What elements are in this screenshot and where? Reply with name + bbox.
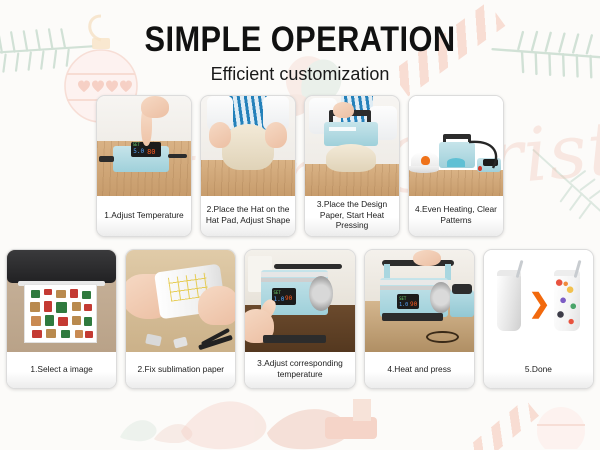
step-card-hat-2[interactable]: 2.Place the Hat on the Hat Pad, Adjust S… xyxy=(200,95,296,237)
sticker-sheet xyxy=(24,284,96,343)
hat-press-machine xyxy=(324,122,379,146)
blank-tumbler xyxy=(497,272,521,331)
step-caption: 1.Adjust Temperature xyxy=(97,196,191,236)
hat-press-step-row: SET 5.0 80 1.Adjust Temperature xyxy=(0,95,600,237)
step-caption: 4.Heat and press xyxy=(365,352,474,388)
step-card-hat-3[interactable]: 3.Place the Design Paper, Start Heat Pre… xyxy=(304,95,400,237)
gingerbread-decor-bottom-center xyxy=(175,391,405,450)
step-card-tumbler-2[interactable]: 2.Fix sublimation paper xyxy=(125,249,236,389)
infographic-page: Merry Christmas xyxy=(0,0,600,450)
step-caption: 3.Place the Design Paper, Start Heat Pre… xyxy=(305,196,399,236)
step-card-tumbler-5[interactable]: ❯ 5.Done xyxy=(483,249,594,389)
step-photo-tumbler-before-after: ❯ xyxy=(484,250,593,352)
press-display: SET 1.0 90 xyxy=(397,294,419,308)
cap-under-press xyxy=(326,144,377,172)
step-photo-adjust-temperature-press: SET 1.0 90 xyxy=(245,250,354,352)
step-caption: 3.Adjust corresponding temperature xyxy=(245,352,354,388)
step-card-tumbler-4[interactable]: SET 1.0 90 4.Heat and press xyxy=(364,249,475,389)
step-caption: 2.Fix sublimation paper xyxy=(126,352,235,388)
step-card-tumbler-3[interactable]: SET 1.0 90 3.Adjust corresponding temper… xyxy=(244,249,355,389)
step-photo-design-paper-press xyxy=(305,96,399,196)
bauble-decor-bottom-right xyxy=(526,391,596,450)
step-photo-even-heating-result xyxy=(409,96,503,196)
step-card-hat-4[interactable]: 4.Even Heating, Clear Patterns xyxy=(408,95,504,237)
step-photo-place-hat xyxy=(201,96,295,196)
step-card-hat-1[interactable]: SET 5.0 80 1.Adjust Temperature xyxy=(96,95,192,237)
printed-tumbler xyxy=(554,272,580,331)
step-caption: 4.Even Heating, Clear Patterns xyxy=(409,196,503,236)
arrow-icon: ❯ xyxy=(529,290,551,316)
printer xyxy=(7,250,116,284)
straw xyxy=(515,260,523,279)
step-caption: 5.Done xyxy=(484,352,593,388)
step-photo-control-box-adjust: SET 5.0 80 xyxy=(97,96,191,196)
step-caption: 2.Place the Hat on the Hat Pad, Adjust S… xyxy=(201,196,295,236)
step-photo-heat-and-press: SET 1.0 90 xyxy=(365,250,474,352)
page-title: SIMPLE OPERATION xyxy=(36,22,564,59)
fox-logo xyxy=(421,156,429,165)
candy-cane-stripe-decor xyxy=(459,399,539,450)
holly-decor-bottom-left xyxy=(110,387,230,448)
header: SIMPLE OPERATION Efficient customization xyxy=(0,0,600,85)
straw xyxy=(573,260,581,279)
step-card-tumbler-1[interactable]: 1.Select a image xyxy=(6,249,117,389)
step-caption: 1.Select a image xyxy=(7,352,116,388)
step-photo-printer-sticker-sheet xyxy=(7,250,116,352)
page-subtitle: Efficient customization xyxy=(0,65,600,85)
tumbler-press-step-row: 1.Select a image 2.Fix sublimation xyxy=(0,249,600,389)
step-photo-sublimation-paper-roll xyxy=(126,250,235,352)
